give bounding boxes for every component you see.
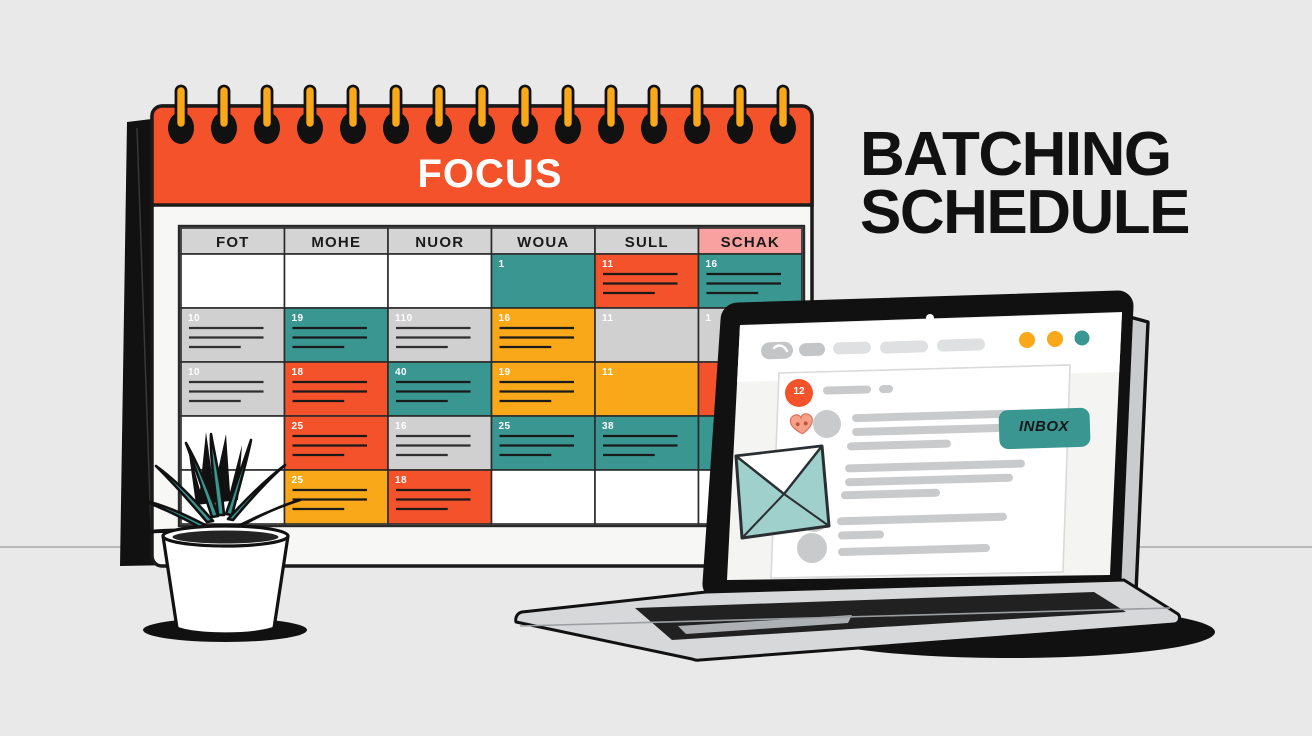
day-header-cell: [388, 228, 492, 254]
calendar-cell[interactable]: [388, 470, 492, 524]
calendar-cell[interactable]: [181, 308, 285, 362]
email-header-line: [823, 385, 871, 394]
day-header-cell: [181, 228, 285, 254]
day-header-cell: [595, 228, 699, 254]
calendar-cell[interactable]: [388, 416, 492, 470]
toolbar-dot: [1047, 331, 1063, 347]
avatar: [797, 533, 827, 563]
back-arrow-icon: [761, 341, 794, 359]
avatar: [813, 410, 841, 438]
calendar-cell[interactable]: [492, 362, 596, 416]
calendar-cell[interactable]: [285, 416, 389, 470]
calendar-cell[interactable]: [595, 470, 699, 524]
calendar-cell[interactable]: [181, 254, 285, 308]
calendar-cell[interactable]: [595, 308, 699, 362]
calendar-rings: [168, 86, 796, 144]
toolbar-pill: [799, 343, 825, 357]
calendar-cell[interactable]: [492, 254, 596, 308]
calendar-cell[interactable]: [492, 308, 596, 362]
toolbar-dot: [1019, 332, 1035, 348]
illustration-scene: BATCHING SCHEDULE FOCUS FOTMOHENUORWOUAS…: [0, 0, 1312, 736]
calendar-cell[interactable]: [285, 308, 389, 362]
calendar-cell[interactable]: [388, 362, 492, 416]
calendar-cell[interactable]: [595, 254, 699, 308]
calendar-cell[interactable]: [492, 416, 596, 470]
toolbar-pill: [833, 341, 871, 354]
calendar-cell[interactable]: [595, 362, 699, 416]
toolbar-dot: [1075, 331, 1090, 346]
calendar-cell[interactable]: [699, 254, 803, 308]
email-header-line: [879, 385, 893, 393]
calendar-cell[interactable]: [285, 470, 389, 524]
calendar-cell[interactable]: [388, 254, 492, 308]
inbox-badge: [998, 408, 1090, 450]
day-header-cell: [285, 228, 389, 254]
day-header-cell: [492, 228, 596, 254]
notification-badge: [785, 379, 813, 407]
calendar-cell[interactable]: [181, 362, 285, 416]
calendar-cell[interactable]: [492, 470, 596, 524]
calendar-cell[interactable]: [285, 254, 389, 308]
calendar-cell[interactable]: [388, 308, 492, 362]
toolbar-pill: [880, 340, 928, 354]
calendar-cell[interactable]: [285, 362, 389, 416]
envelope-icon: [736, 446, 829, 538]
calendar-cell[interactable]: [595, 416, 699, 470]
toolbar-pill: [937, 338, 985, 352]
plant-pot: [163, 536, 288, 634]
day-header-cell: [699, 228, 803, 254]
